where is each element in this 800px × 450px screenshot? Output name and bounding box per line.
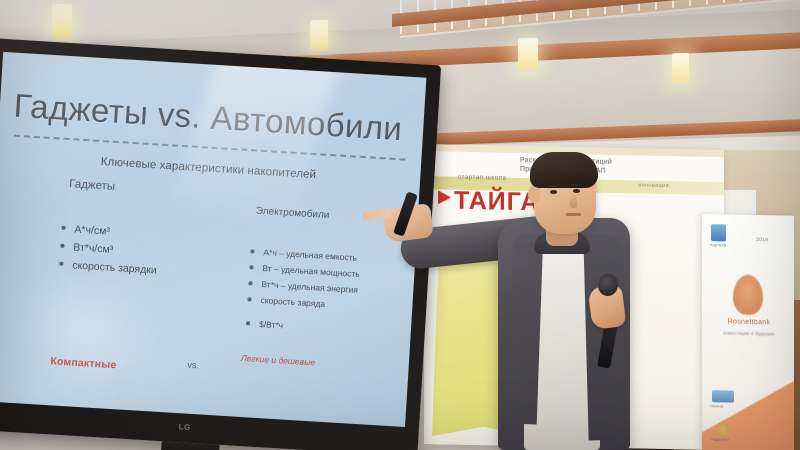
presenter-ear xyxy=(528,186,540,203)
presenter-hair xyxy=(530,152,598,188)
rollup-title: Rosneftbank xyxy=(716,318,782,326)
presentation-photo: Раскопай орех инвестиций Прокачай свой С… xyxy=(0,0,800,450)
presenter-eye xyxy=(550,190,557,194)
slide-bullets-right-secondary: $/Вт*ч xyxy=(245,315,284,333)
slide-footer-vs: vs. xyxy=(187,360,199,371)
screen-glare xyxy=(3,263,170,393)
wall-lamp-icon xyxy=(310,20,328,51)
wall-lamp-icon xyxy=(518,38,538,71)
rollup-subtitle: инвестиции в будущее xyxy=(716,330,782,336)
presentation-tv: LG Гаджеты vs. Автомобили Ключевые харак… xyxy=(0,38,441,450)
slide-column-heading-right: Электромобили xyxy=(256,206,330,221)
tv-screen: Гаджеты vs. Автомобили Ключевые характер… xyxy=(0,52,426,427)
presenter-mouth xyxy=(566,213,581,216)
rollup-logo-caption: партнёр xyxy=(710,242,726,247)
rollup-footer-logo-1-label: спонсор xyxy=(710,404,724,408)
wall-lamp-icon xyxy=(52,4,72,39)
slide-bullets-left: А*ч/см³ Вт*ч/см³ скорость зарядки xyxy=(58,220,160,280)
wall-lamp-icon xyxy=(672,53,689,84)
slide-bullets-right: А*ч – удельная емкость Вт – удельная мощ… xyxy=(246,243,361,314)
rollup-tag: 2016 xyxy=(756,237,768,243)
presenter-eyebrow xyxy=(549,185,558,187)
presenter-eyebrow xyxy=(572,184,581,186)
tv-brand-logo: LG xyxy=(178,422,191,432)
rollup-logo-icon xyxy=(711,224,726,241)
list-item: $/Вт*ч xyxy=(245,315,284,333)
slide: Гаджеты vs. Автомобили Ключевые характер… xyxy=(0,52,426,427)
presenter xyxy=(378,150,678,450)
presenter-eye xyxy=(573,189,580,193)
rollup-footer-logo-2-label: поддержка xyxy=(711,437,729,441)
rollup-emblem-icon xyxy=(733,275,763,316)
slide-column-heading-left: Гаджеты xyxy=(69,178,116,193)
rollup-footer-logo-icon xyxy=(716,422,730,436)
rollup-footer-logo-icon xyxy=(712,390,734,402)
slide-footer-left: Компактные xyxy=(50,355,117,371)
slide-footer-right: Легкие и дешевые xyxy=(241,353,316,368)
rollup-banner: партнёр 2016 Rosneftbank инвестиции в бу… xyxy=(702,214,794,450)
presenter-nose xyxy=(570,196,577,208)
